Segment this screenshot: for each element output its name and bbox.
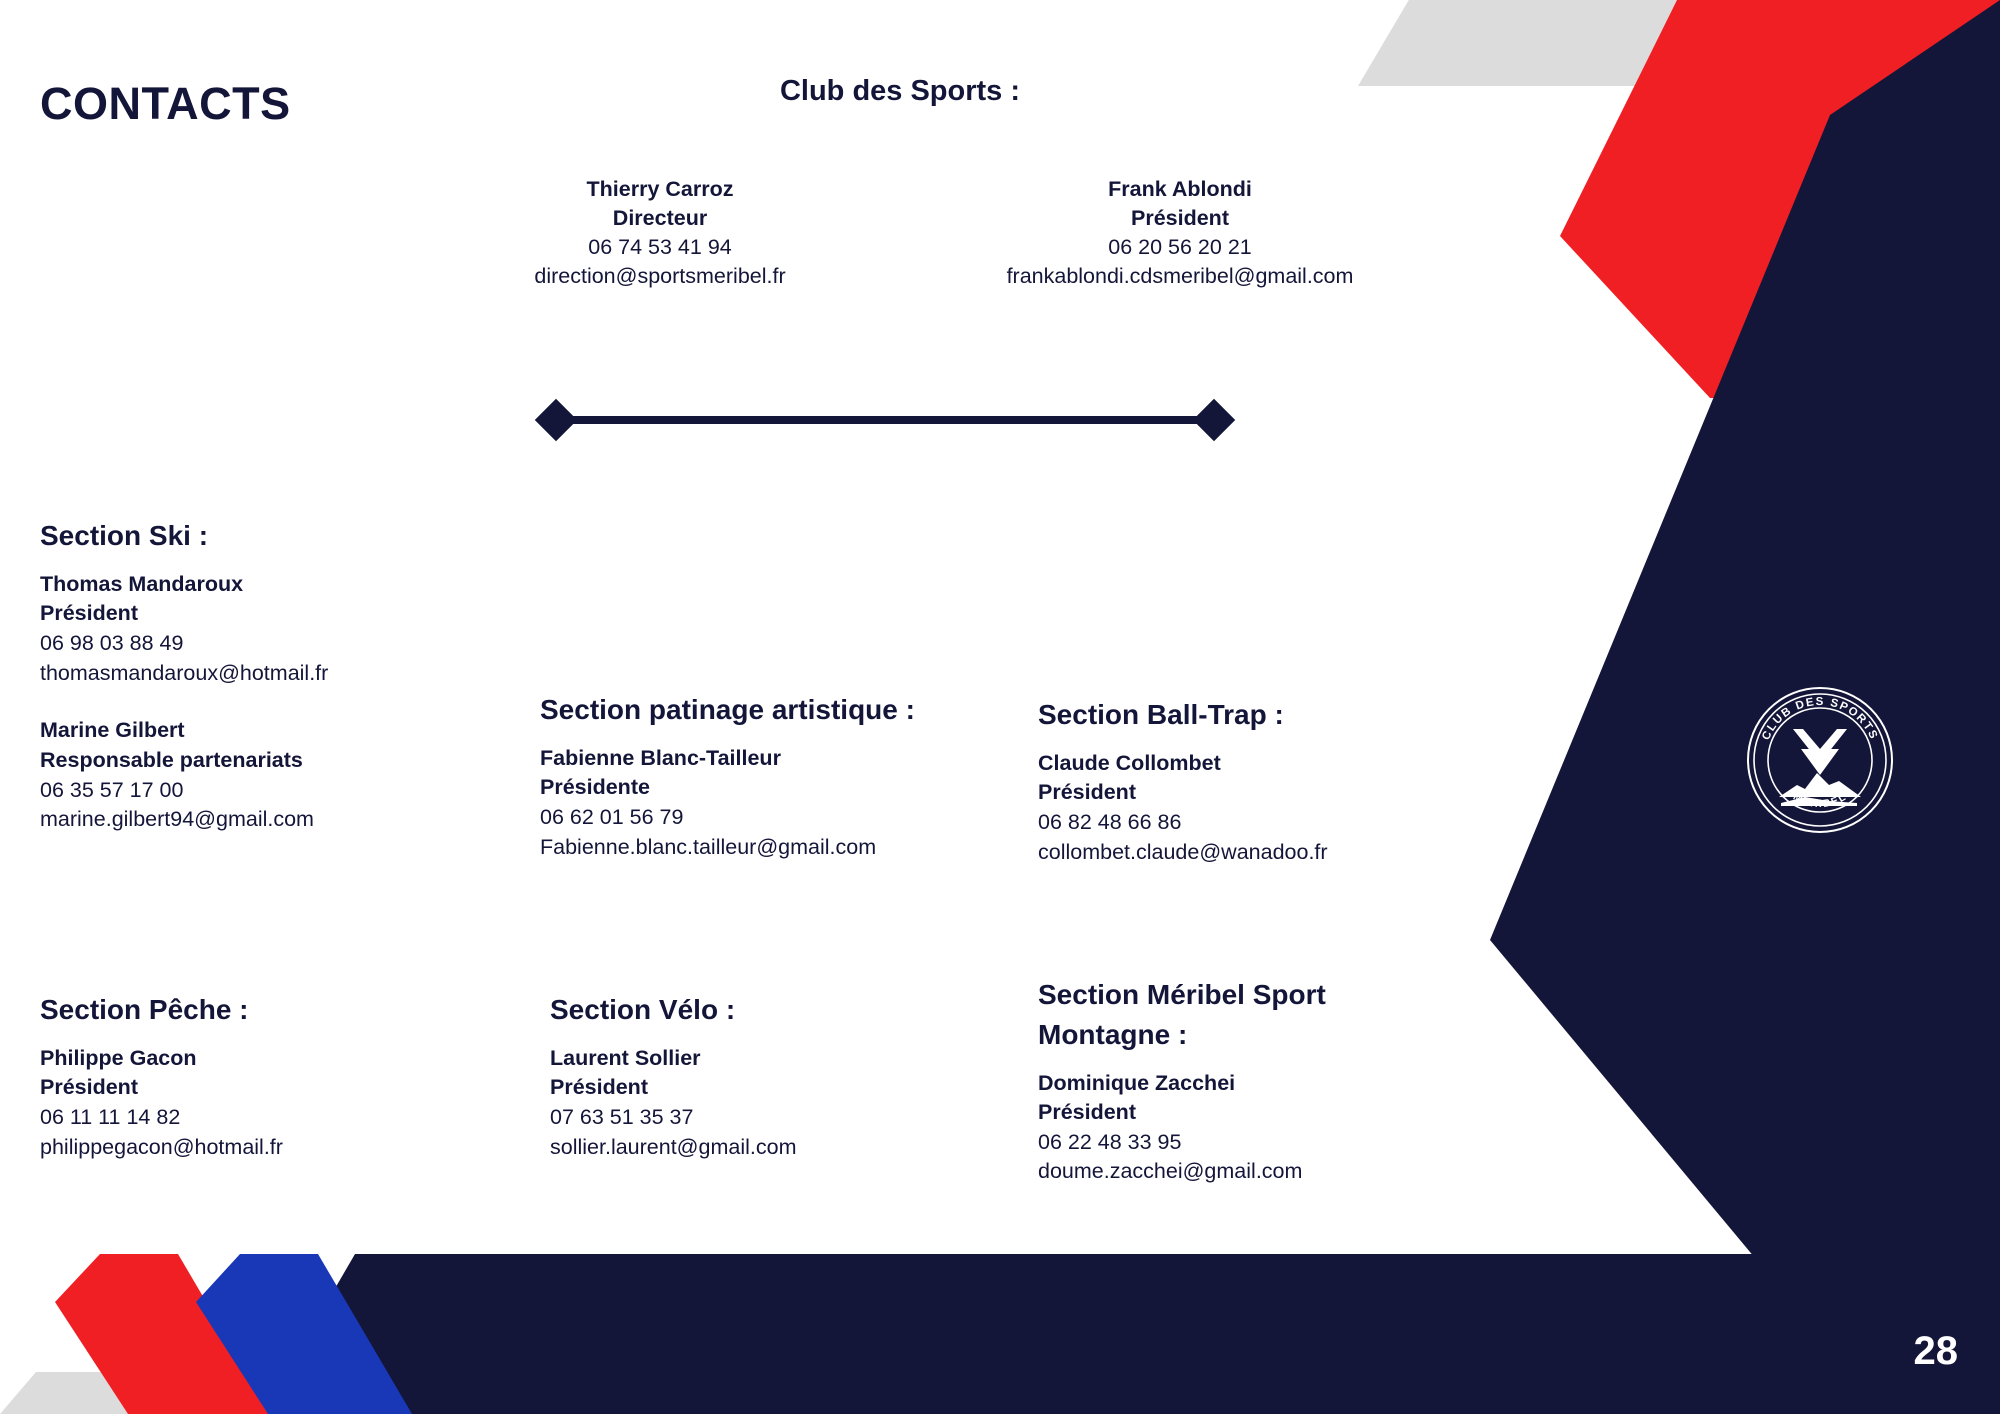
contact-email[interactable]: thomasmandaroux@hotmail.fr [40, 659, 470, 689]
slide-contacts: CONTACTS Club des Sports : Thierry Carro… [0, 0, 2000, 1414]
contact-card: Thierry Carroz Directeur 06 74 53 41 94 … [420, 175, 900, 291]
contact-name: Thierry Carroz [420, 175, 900, 204]
contact-phone: 06 62 01 56 79 [540, 803, 940, 833]
section-meribel-sport-montagne: Section Méribel Sport Montagne : Dominiq… [1038, 975, 1458, 1187]
contact-role: Président [940, 204, 1420, 233]
contact-email[interactable]: doume.zacchei@gmail.com [1038, 1157, 1458, 1187]
contact-name: Dominique Zacchei [1038, 1069, 1458, 1099]
contact-card: Laurent Sollier Président 07 63 51 35 37… [550, 1044, 950, 1163]
contact-name: Philippe Gacon [40, 1044, 460, 1074]
contact-email[interactable]: Fabienne.blanc.tailleur@gmail.com [540, 833, 940, 863]
contact-card: Frank Ablondi Président 06 20 56 20 21 f… [940, 175, 1420, 291]
club-des-sports-meribel-logo-icon: CLUB DES SPORTS MÉRIBEL [1745, 685, 1895, 835]
section-ball-trap-title: Section Ball-Trap : [1038, 695, 1458, 735]
contact-card: Fabienne Blanc-Tailleur Présidente 06 62… [540, 744, 940, 863]
contact-phone: 06 20 56 20 21 [940, 233, 1420, 262]
contact-phone: 06 22 48 33 95 [1038, 1128, 1458, 1158]
section-ski: Section Ski : Thomas Mandaroux Président… [40, 516, 470, 835]
contact-card: Philippe Gacon Président 06 11 11 14 82 … [40, 1044, 460, 1163]
page-number: 28 [1914, 1329, 1959, 1374]
logo-top-text: CLUB DES SPORTS [1760, 696, 1880, 742]
contact-name: Thomas Mandaroux [40, 570, 470, 600]
club-des-sports-heading: Club des Sports : [620, 75, 1180, 108]
contact-name: Fabienne Blanc-Tailleur [540, 744, 940, 774]
contact-phone: 06 11 11 14 82 [40, 1103, 460, 1133]
section-velo-title: Section Vélo : [550, 990, 950, 1030]
contact-phone: 06 74 53 41 94 [420, 233, 900, 262]
decoration-grey-top-shape [1358, 0, 1688, 86]
contact-email[interactable]: frankablondi.cdsmeribel@gmail.com [940, 262, 1420, 291]
contact-role: Directeur [420, 204, 900, 233]
contact-email[interactable]: direction@sportsmeribel.fr [420, 262, 900, 291]
contact-card: Dominique Zacchei Président 06 22 48 33 … [1038, 1069, 1458, 1188]
contact-card: Marine Gilbert Responsable partenariats … [40, 716, 470, 835]
contact-email[interactable]: marine.gilbert94@gmail.com [40, 805, 470, 835]
contact-card: Thomas Mandaroux Président 06 98 03 88 4… [40, 570, 470, 689]
diamond-right-icon [1193, 399, 1235, 441]
contact-role: Président [1038, 1098, 1458, 1128]
section-peche-title: Section Pêche : [40, 990, 460, 1030]
section-montagne-title: Section Méribel Sport Montagne : [1038, 975, 1458, 1055]
contact-name: Claude Collombet [1038, 749, 1458, 779]
section-peche: Section Pêche : Philippe Gacon Président… [40, 990, 460, 1162]
section-velo: Section Vélo : Laurent Sollier Président… [550, 990, 950, 1162]
contact-email[interactable]: collombet.claude@wanadoo.fr [1038, 838, 1458, 868]
contact-phone: 06 82 48 66 86 [1038, 808, 1458, 838]
page-title: CONTACTS [40, 78, 291, 130]
contact-phone: 07 63 51 35 37 [550, 1103, 950, 1133]
svg-text:CLUB DES SPORTS: CLUB DES SPORTS [1760, 696, 1880, 742]
section-ski-title: Section Ski : [40, 516, 470, 556]
contact-role: Président [40, 599, 470, 629]
section-patinage-title: Section patinage artistique : [540, 690, 940, 730]
contact-role: Présidente [540, 773, 940, 803]
contact-name: Laurent Sollier [550, 1044, 950, 1074]
contact-name: Marine Gilbert [40, 716, 470, 746]
contact-phone: 06 35 57 17 00 [40, 776, 470, 806]
section-patinage-artistique: Section patinage artistique : Fabienne B… [540, 690, 940, 862]
contact-email[interactable]: philippegacon@hotmail.fr [40, 1133, 460, 1163]
divider-bar [553, 416, 1217, 424]
contact-name: Frank Ablondi [940, 175, 1420, 204]
contact-card: Claude Collombet Président 06 82 48 66 8… [1038, 749, 1458, 868]
contact-phone: 06 98 03 88 49 [40, 629, 470, 659]
section-divider [545, 405, 1225, 435]
contact-role: Président [1038, 778, 1458, 808]
contact-role: Président [40, 1073, 460, 1103]
section-ball-trap: Section Ball-Trap : Claude Collombet Pré… [1038, 695, 1458, 867]
contact-role: Président [550, 1073, 950, 1103]
contact-email[interactable]: sollier.laurent@gmail.com [550, 1133, 950, 1163]
contact-role: Responsable partenariats [40, 746, 470, 776]
club-des-sports-contacts: Thierry Carroz Directeur 06 74 53 41 94 … [420, 175, 1420, 291]
